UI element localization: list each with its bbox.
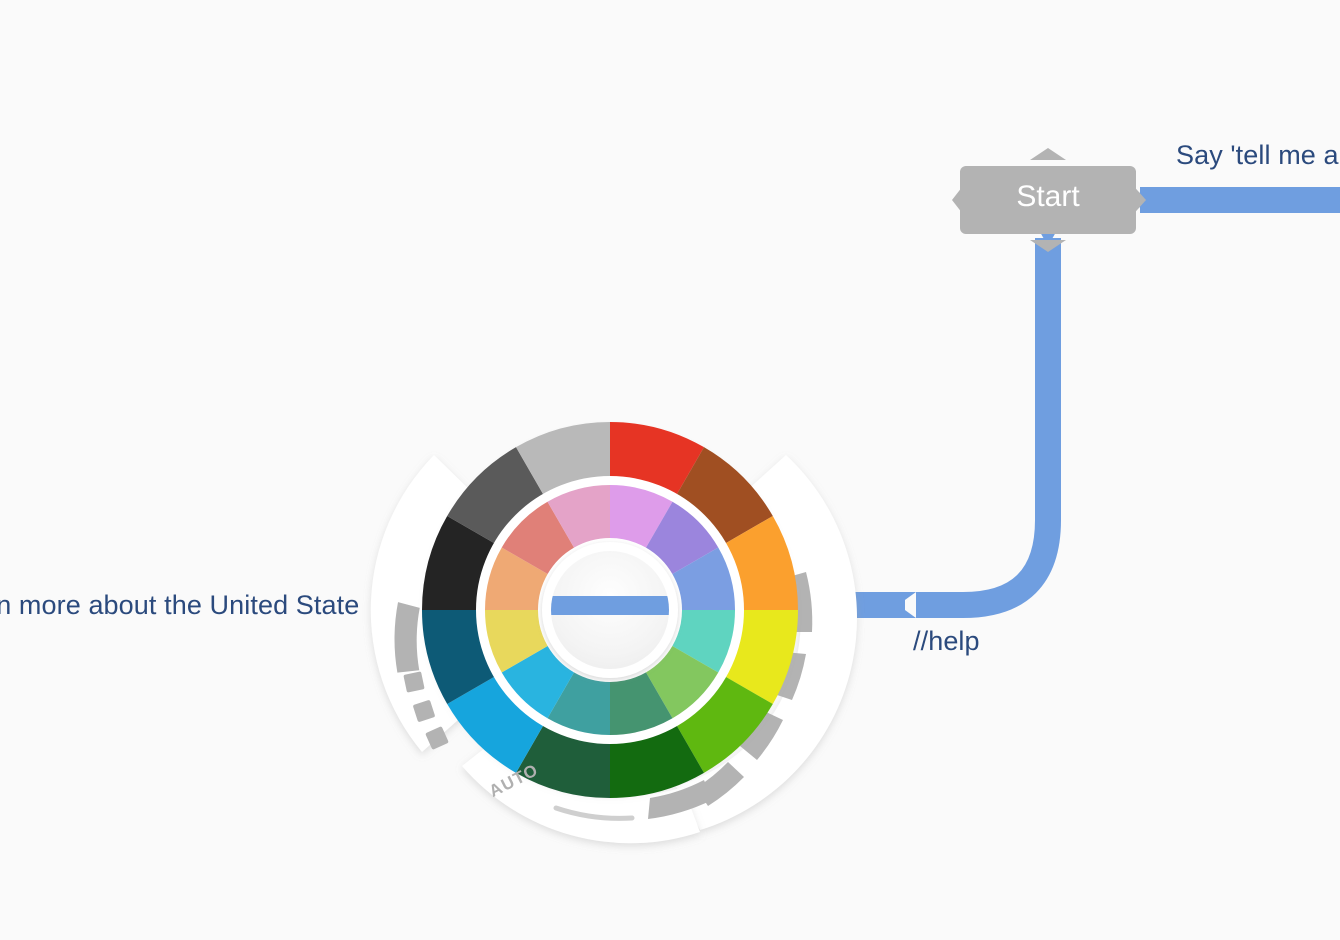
connector-start-to-say[interactable] [1133,187,1340,213]
flow-canvas-svg [0,0,1340,940]
connector-label-help: //help [913,626,980,657]
diagram-canvas[interactable]: Start Say 'tell me a //help arn more abo… [0,0,1340,940]
connector-label-learn: arn more about the United State [0,590,359,621]
connector-start-to-help[interactable] [898,232,1056,618]
connector-label-say: Say 'tell me a [1176,140,1339,171]
